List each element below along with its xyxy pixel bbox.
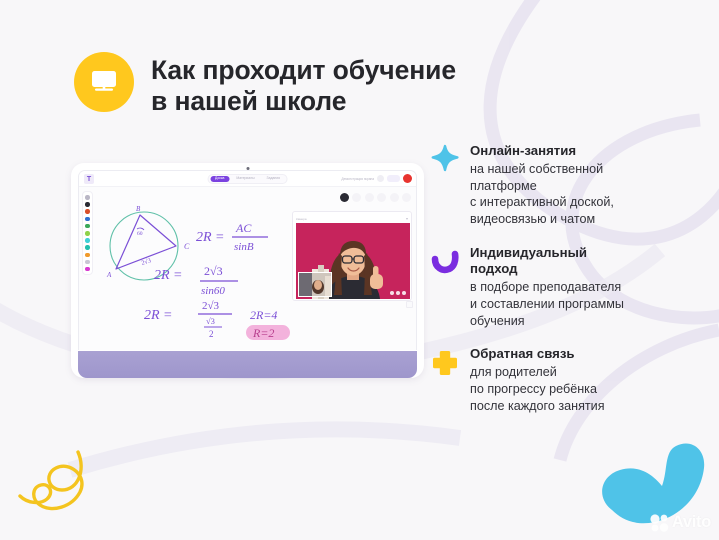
swatch-lightgreen[interactable]	[85, 231, 90, 236]
star-bullet-icon	[430, 144, 460, 174]
svg-text:sinB: sinB	[234, 241, 254, 253]
classroom-app: T Доска Материалы Задания Демонстрация э…	[78, 170, 417, 350]
plus-bullet-icon	[430, 347, 460, 377]
video-resize-handle[interactable]	[406, 301, 413, 308]
svg-text:2√3: 2√3	[140, 256, 152, 267]
monitor-mockup: T Доска Материалы Задания Демонстрация э…	[71, 163, 424, 378]
lock-icon[interactable]	[85, 195, 90, 200]
monitor-screen-shell: T Доска Материалы Задания Демонстрация э…	[71, 163, 424, 378]
crescent-bullet-icon	[430, 246, 460, 276]
feature-body: на нашей собственной платформе с интерак…	[470, 161, 710, 228]
avito-watermark: Avito	[650, 513, 711, 532]
svg-text:B: B	[136, 205, 141, 213]
swatch-orange[interactable]	[85, 253, 90, 258]
feature-list: Онлайн-занятия на нашей собственной плат…	[430, 143, 710, 431]
color-palette-rail[interactable]	[82, 191, 93, 275]
swatch-cyan[interactable]	[85, 238, 90, 243]
video-call-panel[interactable]: Камера ▾	[292, 211, 412, 301]
monitor-icon	[74, 52, 134, 112]
svg-text:√3: √3	[206, 316, 215, 326]
svg-text:AC: AC	[235, 221, 252, 235]
feature-body: для родителей по прогрессу ребёнка после…	[470, 364, 710, 414]
video-title: Камера	[296, 217, 306, 221]
cyan-blob-decoration	[602, 443, 704, 523]
feature-item-feedback: Обратная связь для родителей по прогресс…	[430, 346, 710, 414]
svg-text:60: 60	[137, 231, 143, 237]
video-collapse-icon[interactable]: ▾	[406, 216, 408, 221]
svg-text:R=2: R=2	[252, 326, 274, 340]
svg-text:2√3: 2√3	[202, 300, 220, 312]
feature-heading: Индивидуальный подход	[470, 245, 710, 279]
app-topbar-controls: Демонстрация экрана	[341, 174, 412, 183]
end-call-icon[interactable]	[403, 174, 412, 183]
monitor-bottom-bezel	[78, 351, 417, 378]
app-logo-icon[interactable]: T	[84, 174, 94, 184]
swatch-black[interactable]	[85, 202, 90, 207]
app-topbar: T Доска Материалы Задания Демонстрация э…	[79, 171, 416, 187]
header: Как проходит обучение в нашей школе	[74, 52, 456, 116]
swatch-red[interactable]	[85, 209, 90, 214]
video-panel-header: Камера ▾	[296, 216, 408, 221]
tab-board[interactable]: Доска	[210, 176, 229, 182]
participants-chip[interactable]	[387, 175, 400, 182]
page-title: Как проходит обучение в нашей школе	[151, 52, 456, 116]
swatch-magenta[interactable]	[85, 267, 90, 272]
more-options-icon[interactable]	[390, 291, 406, 295]
feature-item-individual-approach: Индивидуальный подход в подборе преподав…	[430, 245, 710, 330]
avito-wordmark: Avito	[672, 513, 711, 532]
tab-assignments[interactable]: Задания	[262, 176, 285, 182]
svg-text:2R =: 2R =	[144, 308, 173, 323]
svg-text:2√3: 2√3	[204, 264, 223, 278]
yellow-squiggle-decoration	[20, 452, 82, 509]
swatch-grey[interactable]	[85, 260, 90, 265]
svg-text:2R =: 2R =	[196, 230, 225, 245]
session-label: Демонстрация экрана	[341, 177, 374, 181]
svg-text:sin60: sin60	[201, 285, 225, 297]
feature-item-online-lessons: Онлайн-занятия на нашей собственной плат…	[430, 143, 710, 228]
swatch-blue[interactable]	[85, 217, 90, 222]
slide-canvas: Как проходит обучение в нашей школе Онла…	[0, 0, 719, 540]
video-main-feed[interactable]	[296, 223, 410, 299]
swatch-green[interactable]	[85, 224, 90, 229]
participant-pip-thumbnail[interactable]	[298, 272, 332, 297]
feature-heading: Онлайн-занятия	[470, 143, 710, 160]
settings-icon[interactable]	[377, 175, 384, 182]
svg-text:2: 2	[209, 329, 214, 339]
svg-text:C: C	[184, 242, 190, 251]
svg-text:2R=4: 2R=4	[250, 308, 277, 322]
monitor-glyph	[89, 69, 119, 95]
feature-heading: Обратная связь	[470, 346, 710, 363]
avito-logo-icon	[650, 513, 669, 532]
app-tabs: Доска Материалы Задания	[207, 174, 288, 184]
svg-text:A: A	[106, 271, 112, 279]
tab-materials[interactable]: Материалы	[231, 176, 259, 182]
svg-text:2R =: 2R =	[154, 268, 183, 283]
swatch-teal[interactable]	[85, 245, 90, 250]
feature-body: в подборе преподавателя и составлении пр…	[470, 279, 710, 329]
